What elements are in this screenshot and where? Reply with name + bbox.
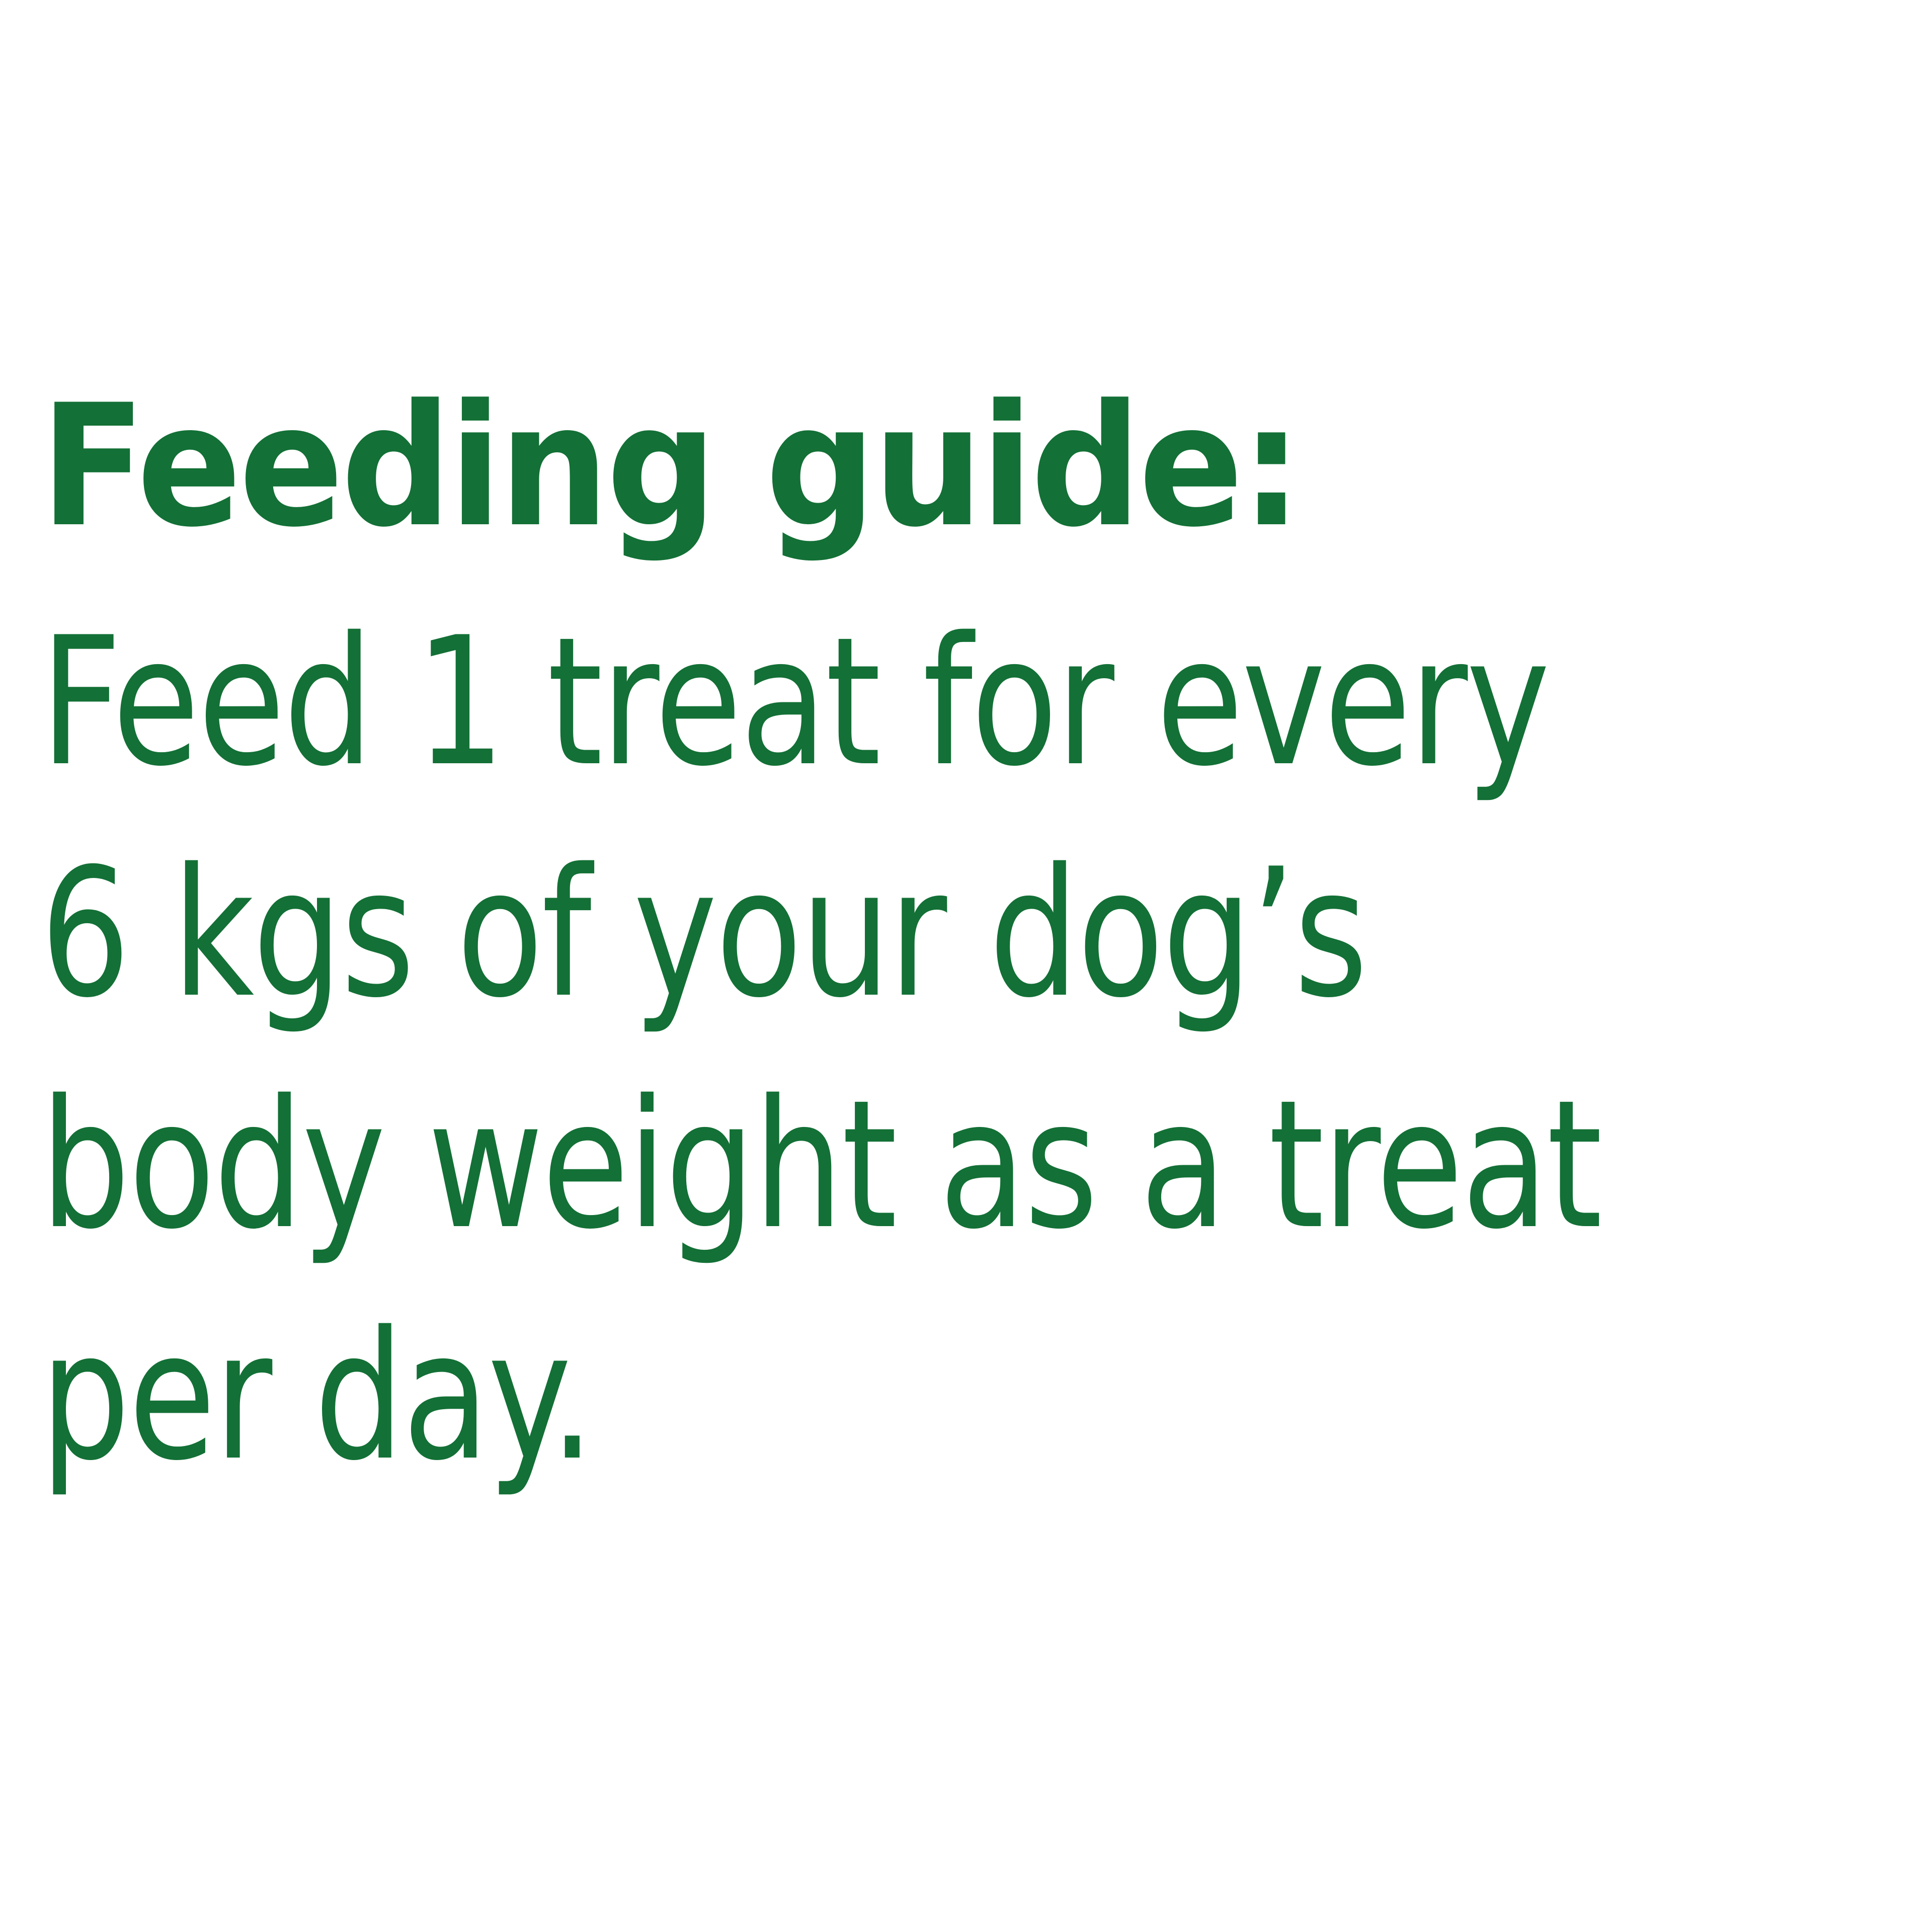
instruction-line-2: 6 kgs of your dog’s xyxy=(40,818,1530,1050)
instruction-line-3: body weight as a treat xyxy=(40,1050,1530,1281)
feeding-guide-panel: Feeding guide: Feed 1 treat for every 6 … xyxy=(0,0,1932,1932)
page-title: Feeding guide: xyxy=(40,382,1753,550)
feeding-guide-content: Feeding guide: Feed 1 treat for every 6 … xyxy=(40,382,1902,1512)
instruction-line-4: per day. xyxy=(40,1281,1530,1512)
instruction-line-1: Feed 1 treat for every xyxy=(40,587,1530,818)
feeding-guide-instructions: Feed 1 treat for every 6 kgs of your dog… xyxy=(40,587,1902,1512)
